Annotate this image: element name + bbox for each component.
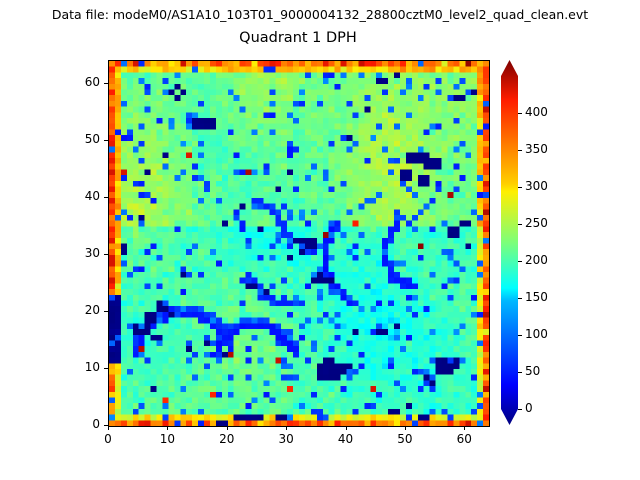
colorbar-tick-label: 350	[525, 142, 548, 156]
y-tick-label: 60	[58, 75, 100, 89]
x-tick	[286, 426, 287, 430]
y-tick	[104, 368, 108, 369]
colorbar-tick	[518, 224, 522, 225]
y-tick	[104, 311, 108, 312]
colorbar-tick	[518, 261, 522, 262]
x-tick-label: 20	[207, 432, 247, 446]
colorbar-tick	[518, 187, 522, 188]
colorbar-tick-label: 150	[525, 290, 548, 304]
y-tick-label: 20	[58, 303, 100, 317]
colorbar-tick	[518, 372, 522, 373]
colorbar-tick	[518, 335, 522, 336]
heatmap-axes	[108, 60, 490, 427]
x-tick-label: 50	[385, 432, 425, 446]
colorbar-tick	[518, 298, 522, 299]
y-tick-label: 10	[58, 360, 100, 374]
dph-heatmap-image	[109, 61, 489, 426]
y-tick-label: 40	[58, 189, 100, 203]
y-tick	[104, 425, 108, 426]
colorbar-tick-label: 200	[525, 253, 548, 267]
colorbar-tick-label: 0	[525, 401, 533, 415]
x-tick	[405, 426, 406, 430]
x-tick	[108, 426, 109, 430]
x-tick	[464, 426, 465, 430]
y-tick-label: 30	[58, 246, 100, 260]
x-tick-label: 60	[444, 432, 484, 446]
x-tick-label: 40	[326, 432, 366, 446]
colorbar-tick	[518, 409, 522, 410]
colorbar-tick-label: 300	[525, 179, 548, 193]
figure-suptitle: Data file: modeM0/AS1A10_103T01_90000041…	[0, 7, 640, 22]
y-tick	[104, 140, 108, 141]
x-tick-label: 30	[266, 432, 306, 446]
y-tick	[104, 254, 108, 255]
y-tick	[104, 197, 108, 198]
colorbar-gradient	[501, 60, 518, 425]
colorbar-tick-label: 400	[525, 105, 548, 119]
axes-title: Quadrant 1 DPH	[108, 30, 488, 46]
colorbar-tick-label: 100	[525, 327, 548, 341]
y-tick	[104, 83, 108, 84]
x-tick	[167, 426, 168, 430]
x-tick-label: 0	[88, 432, 128, 446]
x-tick	[227, 426, 228, 430]
colorbar-tick-label: 50	[525, 364, 540, 378]
figure-canvas: Data file: modeM0/AS1A10_103T01_90000041…	[0, 0, 640, 480]
x-tick	[346, 426, 347, 430]
x-tick-label: 10	[147, 432, 187, 446]
colorbar-tick	[518, 113, 522, 114]
colorbar	[501, 60, 518, 425]
colorbar-tick-label: 250	[525, 216, 548, 230]
y-tick-label: 50	[58, 132, 100, 146]
colorbar-tick	[518, 150, 522, 151]
y-tick-label: 0	[58, 417, 100, 431]
